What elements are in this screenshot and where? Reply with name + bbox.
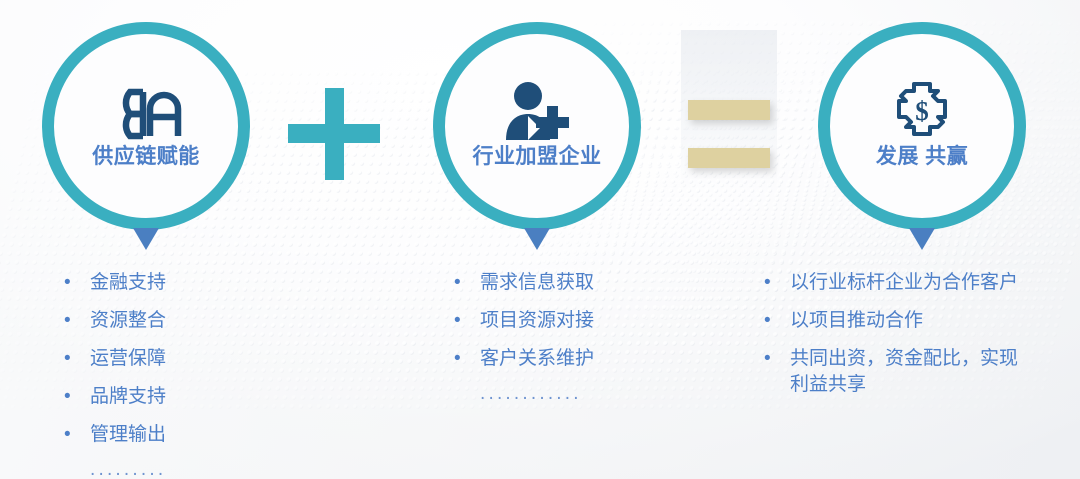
list-item[interactable]: • 运营保障 [60,346,290,372]
badge-label-development-win-win: 发展 共赢 [876,146,968,167]
list-item-label: 以行业标杆企业为合作客户 [790,270,1018,296]
list-item-more: ............ [450,384,700,404]
badge-industry-partner-enterprise[interactable]: 行业加盟企业 [433,22,641,230]
bullet-list-industry-partner-enterprise: • 需求信息获取 • 项目资源对接 • 客户关系维护 ............ [450,270,700,416]
gear-dollar-icon: $ [889,80,955,142]
plus-operator-icon [288,88,380,180]
equals-bar-bottom [688,148,770,168]
list-item[interactable]: • 客户关系维护 [450,346,700,372]
ellipsis-label: ............ [480,384,582,404]
list-item-more: ......... [60,460,290,479]
svg-text:$: $ [915,96,929,126]
list-item[interactable]: • 以行业标杆企业为合作客户 [760,270,1070,296]
bullet-list-supply-chain-empowerment: • 金融支持 • 资源整合 • 运营保障 • 品牌支持 • 管理输出 .....… [60,270,290,479]
list-item-label: 项目资源对接 [480,308,594,334]
bullet-marker: • [60,346,90,372]
list-item-label: 需求信息获取 [480,270,594,296]
list-item-label: 以项目推动合作 [790,308,923,334]
list-item-label: 资源整合 [90,308,166,334]
equals-bar-top [688,100,770,120]
list-item[interactable]: • 品牌支持 [60,384,290,410]
bullet-list-development-win-win: • 以行业标杆企业为合作客户 • 以项目推动合作 • 共同出资，资金配比，实现 … [760,270,1070,410]
bullet-marker: • [760,308,790,334]
list-item[interactable]: • 以项目推动合作 [760,308,1070,334]
list-item[interactable]: • 项目资源对接 [450,308,700,334]
bullet-marker: • [450,308,480,334]
equals-operator-icon [688,100,770,168]
list-item[interactable]: • 共同出资，资金配比，实现 利益共享 [760,346,1070,398]
ea-logo-icon [110,80,182,142]
badge-supply-chain-empowerment[interactable]: 供应链赋能 [42,22,250,230]
pointer-development-win-win [909,228,935,250]
list-item-label: 品牌支持 [90,384,166,410]
badge-development-win-win[interactable]: $ 发展 共赢 [818,22,1026,230]
bullet-marker: • [760,346,790,372]
bullet-marker: • [760,270,790,296]
infographic-slide: 供应链赋能 • 金融支持 • 资源整合 • 运营保障 • 品牌支持 • 管理输出… [0,0,1080,479]
bullet-marker: • [450,346,480,372]
bullet-marker: • [450,270,480,296]
list-item-label: 客户关系维护 [480,346,594,372]
list-item-label: 管理输出 [90,422,166,448]
bullet-marker: • [60,270,90,296]
list-item-label: 金融支持 [90,270,166,296]
bullet-marker: • [60,308,90,334]
list-item[interactable]: • 金融支持 [60,270,290,296]
list-item[interactable]: • 需求信息获取 [450,270,700,296]
ellipsis-label: ......... [90,460,166,479]
list-item-label: 共同出资，资金配比，实现 利益共享 [790,346,1018,398]
badge-label-supply-chain-empowerment: 供应链赋能 [92,146,200,167]
list-item-label: 运营保障 [90,346,166,372]
plus-bar-vertical [325,88,344,180]
bullet-marker: • [60,384,90,410]
bullet-marker: • [60,422,90,448]
badge-label-industry-partner-enterprise: 行业加盟企业 [473,146,602,167]
pointer-supply-chain-empowerment [133,228,159,250]
list-item[interactable]: • 管理输出 [60,422,290,448]
pointer-industry-partner-enterprise [524,228,550,250]
list-item[interactable]: • 资源整合 [60,308,290,334]
add-user-icon [498,80,576,142]
